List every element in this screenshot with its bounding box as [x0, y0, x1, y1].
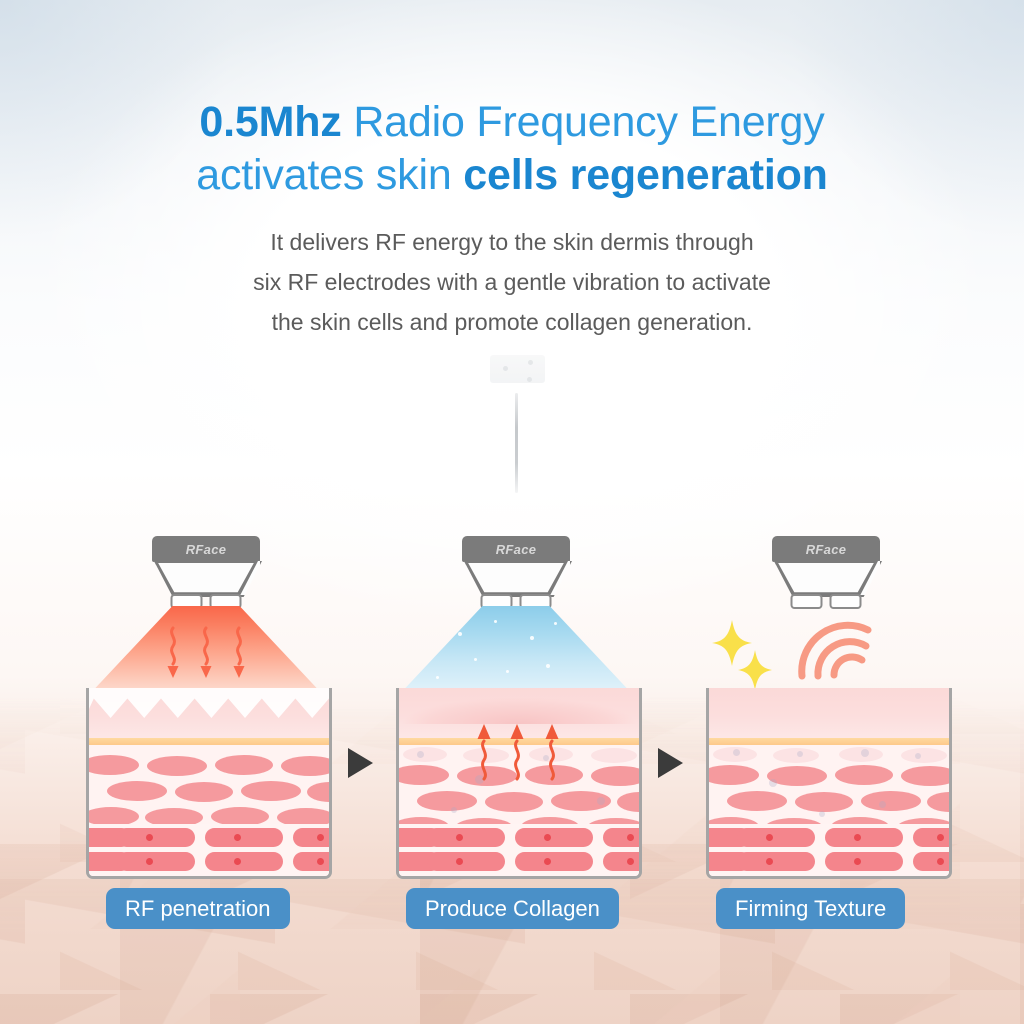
infographic-canvas: 0.5Mhz Radio Frequency Energy activates … — [0, 0, 1024, 1024]
device-brand-label: RFace — [496, 542, 537, 557]
skin-cross-section — [86, 688, 332, 879]
epidermis-layer — [709, 688, 949, 738]
headline-line-2: activates skin cells regeneration — [0, 149, 1024, 202]
step-label-produce-collagen: Produce Collagen — [406, 888, 619, 929]
device-brand-label: RFace — [806, 542, 847, 557]
subtitle-line-1: It delivers RF energy to the skin dermis… — [0, 222, 1024, 262]
steps-diagram: RFace — [0, 528, 1024, 948]
ghost-device-thumbnail — [490, 355, 545, 383]
device-top-shell: RFace — [462, 536, 570, 562]
skin-cross-section — [396, 688, 642, 879]
device-brand-label: RFace — [186, 542, 227, 557]
ghost-device-cable — [515, 393, 518, 493]
basal-layer-line — [89, 738, 329, 745]
headline-frequency: 0.5Mhz — [199, 98, 341, 146]
headline-line-1-rest: Radio Frequency Energy — [342, 98, 825, 146]
skin-cross-section — [706, 688, 952, 879]
step-label-rf-penetration: RF penetration — [106, 888, 290, 929]
subtitle-line-2: six RF electrodes with a gentle vibratio… — [0, 262, 1024, 302]
vascular-layer — [709, 824, 949, 876]
vibration-waves-icon — [798, 620, 884, 682]
step-label-firming-texture: Firming Texture — [716, 888, 905, 929]
device-top-shell: RFace — [772, 536, 880, 562]
step-separator-arrow-icon — [658, 748, 683, 778]
collagen-arrow-up-icon — [509, 723, 525, 781]
collagen-arrow-up-icon — [544, 723, 560, 781]
epidermis-smooth-surface — [396, 690, 642, 724]
vascular-layer — [89, 824, 329, 876]
subtitle-line-3: the skin cells and promote collagen gene… — [0, 302, 1024, 342]
device-top-shell: RFace — [152, 536, 260, 562]
headline-emphasis: cells regeneration — [463, 151, 827, 199]
energy-arrow-down-icon — [166, 626, 180, 680]
headline-line-2-rest: activates skin — [196, 151, 463, 199]
rface-device-head: RFace — [152, 528, 260, 600]
electrode-pad — [791, 594, 823, 609]
basal-layer-line — [709, 738, 949, 745]
electrode-pads — [791, 594, 862, 609]
dermis-layer — [89, 745, 329, 824]
vascular-layer — [399, 824, 639, 876]
rface-device-head: RFace — [772, 528, 880, 600]
dermis-layer — [709, 745, 949, 824]
energy-arrow-down-icon — [199, 626, 213, 680]
energy-arrow-down-icon — [232, 626, 246, 680]
collagen-arrow-up-icon — [476, 723, 492, 781]
electrode-pad — [830, 594, 862, 609]
step-separator-arrow-icon — [348, 748, 373, 778]
page-title: 0.5Mhz Radio Frequency Energy activates … — [0, 96, 1024, 202]
subtitle-paragraph: It delivers RF energy to the skin dermis… — [0, 222, 1024, 342]
rface-device-head: RFace — [462, 528, 570, 600]
headline-line-1: 0.5Mhz Radio Frequency Energy — [0, 96, 1024, 149]
rf-energy-beam-blue — [396, 606, 636, 698]
